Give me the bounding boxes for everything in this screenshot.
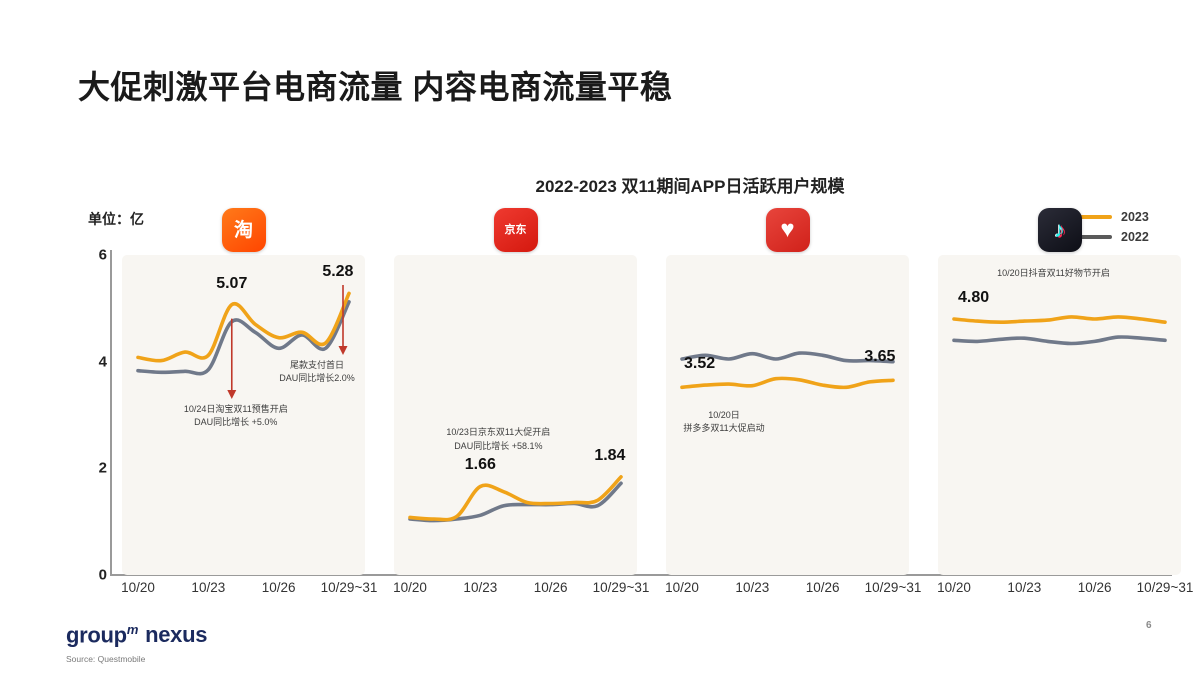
legend-label-2022: 2022 <box>1121 230 1149 244</box>
annotation-line2: DAU同比增长2.0% <box>279 372 355 385</box>
douyin-icon-glyph: ♪ <box>1054 219 1065 241</box>
jd-icon: 京东 <box>494 208 538 252</box>
x-tick-taobao-0: 10/20 <box>121 580 155 595</box>
annotation-line1: 10/20日抖音双11好物节开启 <box>997 267 1110 280</box>
legend-swatch-2022 <box>1078 235 1112 239</box>
annotation-douyin-0: 10/20日抖音双11好物节开启 <box>997 267 1110 280</box>
y-tick-4: 4 <box>99 353 107 370</box>
logo-superscript: m <box>127 622 138 637</box>
annotation-line2: DAU同比增长 +58.1% <box>446 440 550 453</box>
x-tick-douyin-1: 10/23 <box>1007 580 1041 595</box>
logo-nexus-text: nexus <box>145 622 207 647</box>
annotation-line1: 10/23日京东双11大促开启 <box>446 426 550 439</box>
x-axis-labels: 10/2010/2310/2610/29~3110/2010/2310/2610… <box>0 580 1200 602</box>
chart-panel-jd: 京东1.661.8410/23日京东双11大促开启DAU同比增长 +58.1% <box>394 255 637 575</box>
line-pinduoduo-2023 <box>682 378 893 387</box>
x-tick-pinduoduo-0: 10/20 <box>665 580 699 595</box>
legend-item-2023: 2023 <box>1078 208 1149 225</box>
y-tick-6: 6 <box>99 247 107 264</box>
value-label-pinduoduo-3.65: 3.65 <box>864 348 895 366</box>
value-label-taobao-5.07: 5.07 <box>216 275 247 293</box>
x-tick-pinduoduo-3: 10/29~31 <box>865 580 922 595</box>
chart-panel-taobao: 淘5.075.2810/24日淘宝双11预售开启DAU同比增长 +5.0%尾款支… <box>122 255 365 575</box>
chart-unit-label: 单位：亿 <box>88 209 144 229</box>
x-tick-jd-2: 10/26 <box>534 580 568 595</box>
x-tick-taobao-2: 10/26 <box>262 580 296 595</box>
x-tick-pinduoduo-2: 10/26 <box>806 580 840 595</box>
x-tick-jd-3: 10/29~31 <box>593 580 650 595</box>
annotation-taobao-0: 10/24日淘宝双11预售开启DAU同比增长 +5.0% <box>184 403 288 429</box>
chart-panel-douyin: ♪4.8010/20日抖音双11好物节开启 <box>938 255 1181 575</box>
taobao-icon: 淘 <box>222 208 266 252</box>
annotation-line2: DAU同比增长 +5.0% <box>184 416 288 429</box>
value-label-pinduoduo-3.52: 3.52 <box>684 355 715 373</box>
line-douyin-2022 <box>954 337 1165 344</box>
source-note: Source: Questmobile <box>66 654 145 664</box>
y-axis-ticks: 0246 <box>85 245 107 585</box>
page-title: 大促刺激平台电商流量 内容电商流量平稳 <box>78 62 672 108</box>
x-tick-douyin-2: 10/26 <box>1078 580 1112 595</box>
y-tick-2: 2 <box>99 460 107 477</box>
annotation-line1: 10/24日淘宝双11预售开启 <box>184 403 288 416</box>
annotation-taobao-1: 尾款支付首日DAU同比增长2.0% <box>279 359 355 385</box>
line-taobao-2023 <box>138 293 349 360</box>
groupm-nexus-logo: groupmnexus <box>66 622 207 648</box>
value-label-douyin-4.80: 4.80 <box>958 289 989 307</box>
annotation-line2: 拼多多双11大促启动 <box>683 422 764 435</box>
value-label-jd-1.66: 1.66 <box>465 456 496 474</box>
line-jd-2023 <box>410 477 621 520</box>
legend-item-2022: 2022 <box>1078 228 1149 245</box>
annotation-line1: 尾款支付首日 <box>279 359 355 372</box>
chart-plot-area: 淘5.075.2810/24日淘宝双11预售开启DAU同比增长 +5.0%尾款支… <box>112 255 1172 575</box>
x-tick-pinduoduo-1: 10/23 <box>735 580 769 595</box>
annotation-jd-0: 10/23日京东双11大促开启DAU同比增长 +58.1% <box>446 426 550 452</box>
taobao-icon-glyph: 淘 <box>234 221 253 240</box>
x-tick-taobao-3: 10/29~31 <box>321 580 378 595</box>
douyin-icon: ♪ <box>1038 208 1082 252</box>
jd-icon-glyph: 京东 <box>505 225 527 236</box>
value-label-taobao-5.28: 5.28 <box>322 263 353 281</box>
chart-panel-pinduoduo: ♥3.523.6510/20日拼多多双11大促启动 <box>666 255 909 575</box>
x-tick-douyin-0: 10/20 <box>937 580 971 595</box>
value-label-jd-1.84: 1.84 <box>594 447 625 465</box>
slide-root: 大促刺激平台电商流量 内容电商流量平稳 2022-2023 双11期间APP日活… <box>0 0 1200 675</box>
chart-legend: 2023 2022 <box>1078 208 1149 248</box>
pinduoduo-icon: ♥ <box>766 208 810 252</box>
annotation-pinduoduo-0: 10/20日拼多多双11大促启动 <box>683 409 764 435</box>
x-tick-jd-1: 10/23 <box>463 580 497 595</box>
x-tick-douyin-3: 10/29~31 <box>1137 580 1194 595</box>
legend-swatch-2023 <box>1078 215 1112 219</box>
legend-label-2023: 2023 <box>1121 210 1149 224</box>
chart-title: 2022-2023 双11期间APP日活跃用户规模 <box>0 172 1200 197</box>
page-number: 6 <box>1146 620 1152 631</box>
annotation-line1: 10/20日 <box>683 409 764 422</box>
x-tick-taobao-1: 10/23 <box>191 580 225 595</box>
logo-groupm-text: group <box>66 622 127 647</box>
pinduoduo-icon-glyph: ♥ <box>780 218 794 242</box>
line-douyin-2023 <box>954 317 1165 322</box>
series-lines-jd <box>394 255 637 575</box>
x-tick-jd-0: 10/20 <box>393 580 427 595</box>
